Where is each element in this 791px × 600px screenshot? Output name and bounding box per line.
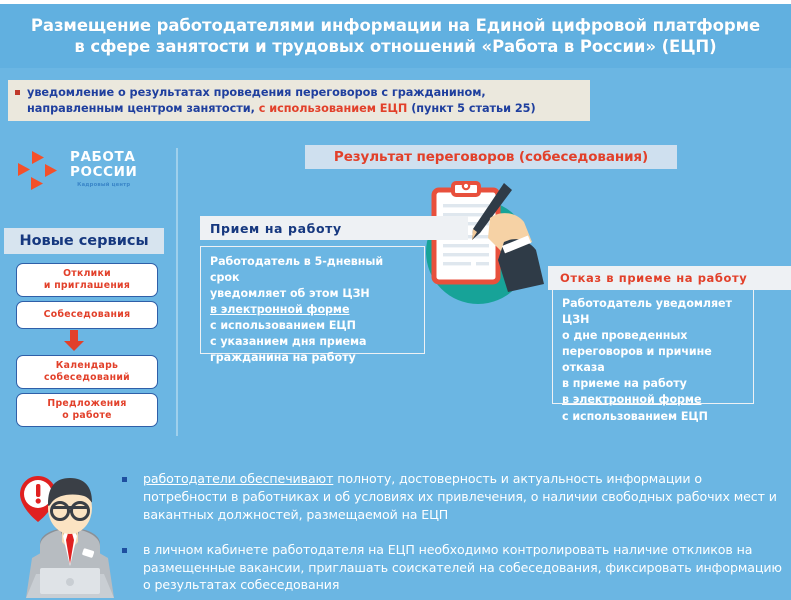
businessman-laptop-illustration-icon <box>10 470 130 598</box>
sidebar-item-otkliki[interactable]: Отклики и приглашения <box>16 263 158 297</box>
sidebar-item-kalendar-line1: Календарь <box>56 360 118 372</box>
notice-banner: уведомление о результатах проведения пер… <box>8 80 590 121</box>
bullet-2-rest: в личном кабинете работодателя на ЕЦП не… <box>143 542 782 593</box>
down-arrow-icon <box>63 330 85 352</box>
hire-line-6: гражданина на работу <box>210 350 415 366</box>
deny-label: Отказ в приеме на работу <box>548 266 791 290</box>
hire-textbox: Работодатель в 5-дневный срок уведомляет… <box>200 246 425 354</box>
deny-line-5: в электронной форме <box>562 392 744 408</box>
deny-line-4: в приеме на работу <box>562 376 744 392</box>
logo-subtitle: Кадровый центр <box>70 182 137 188</box>
hire-label: Прием на работу <box>200 216 468 240</box>
notice-text-part2: (пункт 5 статьи 25) <box>411 102 535 115</box>
sidebar-item-kalendar-line2: собеседований <box>44 372 130 384</box>
sidebar-item-predlozheniya-line1: Предложения <box>47 398 126 410</box>
sidebar-item-sobesedovaniya-line1: Собеседования <box>44 309 131 321</box>
hire-line-3: в электронной форме <box>210 302 415 318</box>
sidebar-item-otkliki-line1: Отклики <box>63 268 111 280</box>
bullet-square-icon <box>122 548 127 553</box>
deny-line-2: о дне проведенных <box>562 328 744 344</box>
result-title-bar: Результат переговоров (собеседования) <box>305 145 677 169</box>
bullet-list: работодатели обеспечивают полноту, досто… <box>122 470 782 600</box>
hire-line-1: Работодатель в 5-дневный срок <box>210 254 415 286</box>
deny-line-6: с использованием ЕЦП <box>562 409 744 425</box>
bullet-text-2: в личном кабинете работодателя на ЕЦП не… <box>143 541 782 595</box>
rabota-rossii-logo-icon <box>18 151 64 195</box>
sidebar-item-otkliki-line2: и приглашения <box>44 280 130 292</box>
vertical-divider <box>176 148 178 436</box>
deny-textbox: Работодатель уведомляет ЦЗН о дне провед… <box>552 288 754 404</box>
hire-line-5: с указанием дня приема <box>210 334 415 350</box>
logo-line-2: РОССИИ <box>70 165 137 180</box>
slide-root: Размещение работодателями информации на … <box>0 0 791 600</box>
sidebar-item-predlozheniya-line2: о работе <box>62 410 112 422</box>
hire-line-2: уведомляет об этом ЦЗН <box>210 286 415 302</box>
header-band: Размещение работодателями информации на … <box>0 4 791 68</box>
sidebar: РАБОТА РОССИИ Кадровый центр Новые серви… <box>0 130 175 440</box>
sidebar-item-predlozheniya[interactable]: Предложения о работе <box>16 393 158 427</box>
brand-logo: РАБОТА РОССИИ Кадровый центр <box>18 148 158 200</box>
clipboard-pen-illustration-icon <box>412 180 552 310</box>
bullet-square-icon <box>122 477 127 482</box>
notice-text-red: с использованием ЕЦП <box>259 102 411 115</box>
deny-line-1: Работодатель уведомляет ЦЗН <box>562 296 744 328</box>
sidebar-item-sobesedovaniya[interactable]: Собеседования <box>16 301 158 329</box>
bullet-1-underlined: работодатели обеспечивают <box>143 471 333 486</box>
list-item: работодатели обеспечивают полноту, досто… <box>122 470 782 524</box>
logo-line-1: РАБОТА <box>70 150 137 165</box>
logo-wordmark: РАБОТА РОССИИ Кадровый центр <box>70 150 137 188</box>
bullet-text-1: работодатели обеспечивают полноту, досто… <box>143 470 782 524</box>
sidebar-item-kalendar[interactable]: Календарь собеседований <box>16 355 158 389</box>
notice-bullet-icon <box>15 90 20 95</box>
list-item: в личном кабинете работодателя на ЕЦП не… <box>122 541 782 595</box>
sidebar-heading: Новые сервисы <box>4 228 164 254</box>
hire-line-4: с использованием ЕЦП <box>210 318 415 334</box>
notice-text: уведомление о результатах проведения пер… <box>27 85 584 116</box>
page-title: Размещение работодателями информации на … <box>26 15 766 58</box>
deny-line-3: переговоров и причине отказа <box>562 344 744 376</box>
